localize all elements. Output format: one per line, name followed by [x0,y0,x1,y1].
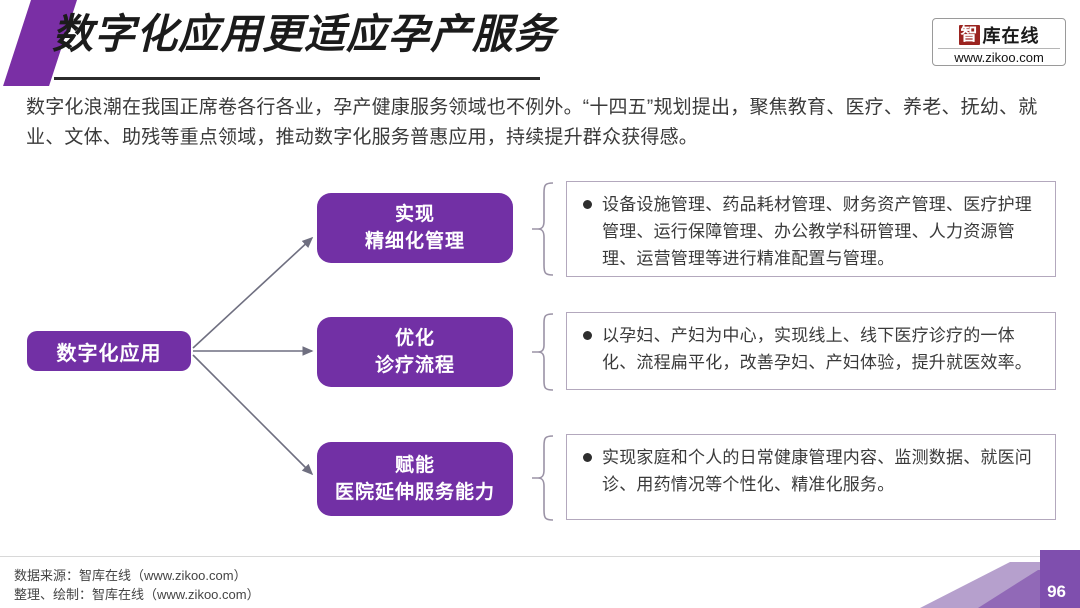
slide-canvas: 数字化应用更适应孕产服务 智 库在线 www.zikoo.com 数字化浪潮在我… [0,0,1080,608]
bullet-dot-icon [583,200,592,209]
branch-2-content-box: 以孕妇、产妇为中心，实现线上、线下医疗诊疗的一体化、流程扁平化，改善孕妇、产妇体… [566,312,1056,390]
page-number: 96 [1047,582,1066,602]
diagram-branch-node-1[interactable]: 实现 精细化管理 [317,193,513,263]
bullet-item: 设备设施管理、药品耗材管理、财务资产管理、医疗护理管理、运行保障管理、办公教学科… [579,191,1043,272]
brace-connector-3 [531,434,557,522]
logo-wordmark-row: 智 库在线 [938,22,1060,47]
footer-divider [0,556,1080,557]
diagram-branch-node-2[interactable]: 优化 诊疗流程 [317,317,513,387]
diagram-branch-node-3[interactable]: 赋能 医院延伸服务能力 [317,442,513,516]
branch-1-title-line1: 实现 [395,201,435,228]
branch-3-content-box: 实现家庭和个人的日常健康管理内容、监测数据、就医问诊、用药情况等个性化、精准化服… [566,434,1056,520]
brand-logo: 智 库在线 www.zikoo.com [932,18,1066,66]
branch-2-title-line2: 诊疗流程 [375,352,455,379]
branch-1-content-text: 设备设施管理、药品耗材管理、财务资产管理、医疗护理管理、运行保障管理、办公教学科… [602,191,1043,272]
branch-2-title-line1: 优化 [395,325,435,352]
branch-1-content-box: 设备设施管理、药品耗材管理、财务资产管理、医疗护理管理、运行保障管理、办公教学科… [566,181,1056,277]
logo-mark-icon: 智 [959,25,980,45]
brace-connector-2 [531,312,557,392]
footer-credit-line: 整理、绘制：智库在线（www.zikoo.com） [14,585,260,604]
bullet-dot-icon [583,331,592,340]
title-underline [54,77,540,80]
branch-3-title-line2: 医院延伸服务能力 [335,479,495,506]
intro-paragraph: 数字化浪潮在我国正席卷各行各业，孕产健康服务领域也不例外。“十四五”规划提出，聚… [26,93,1056,153]
page-title: 数字化应用更适应孕产服务 [52,12,556,57]
footer-source-line: 数据来源：智库在线（www.zikoo.com） [14,566,260,585]
diagram-root-node[interactable]: 数字化应用 [27,331,191,371]
bullet-item: 实现家庭和个人的日常健康管理内容、监测数据、就医问诊、用药情况等个性化、精准化服… [579,444,1043,498]
bullet-dot-icon [583,453,592,462]
bullet-item: 以孕妇、产妇为中心，实现线上、线下医疗诊疗的一体化、流程扁平化，改善孕妇、产妇体… [579,322,1043,376]
branch-3-content-text: 实现家庭和个人的日常健康管理内容、监测数据、就医问诊、用药情况等个性化、精准化服… [602,444,1043,498]
branch-3-title-line1: 赋能 [395,452,435,479]
footer-credits: 数据来源：智库在线（www.zikoo.com） 整理、绘制：智库在线（www.… [14,566,260,604]
brace-connector-1 [531,181,557,277]
logo-url: www.zikoo.com [938,48,1060,65]
branch-2-content-text: 以孕妇、产妇为中心，实现线上、线下医疗诊疗的一体化、流程扁平化，改善孕妇、产妇体… [602,322,1043,376]
logo-brand-name: 库在线 [983,22,1040,48]
branch-1-title-line2: 精细化管理 [365,228,465,255]
